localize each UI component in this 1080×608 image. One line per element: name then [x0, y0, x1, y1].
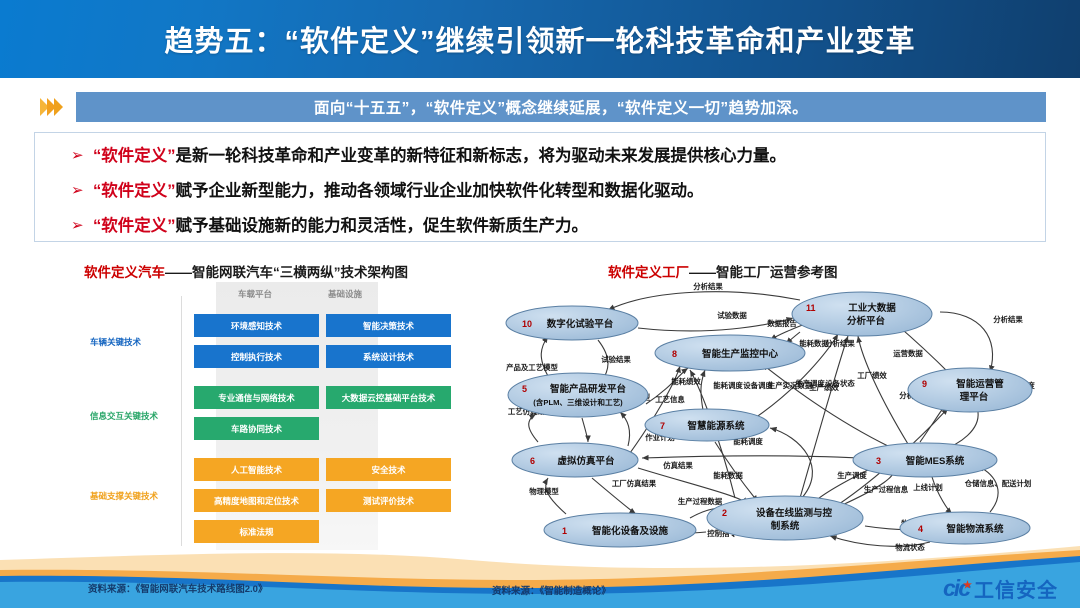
tech-box-hd-map: 高精度地图和定位技术	[194, 489, 319, 512]
bullet-highlight: “软件定义”	[93, 217, 176, 235]
tech-box-test-eval: 测试评价技术	[326, 489, 451, 512]
node-label: 智能化设备及设施	[592, 525, 669, 537]
brand-logo: cic★ 工信安全	[943, 574, 1058, 603]
edge-label: 能耗数据	[713, 471, 743, 480]
row-label-info-interaction-key-tech: 信息交互关键技术	[90, 410, 158, 422]
edge-label: 生产过程数据	[678, 497, 723, 506]
star-icon: ★	[963, 580, 970, 591]
edge-label: 分析结果	[825, 339, 855, 348]
graph-node-6[interactable]: 6 虚拟仿真平台	[512, 443, 638, 477]
list-item: ➢ “软件定义”赋予基础设施新的能力和灵活性，促生软件新质生产力。	[35, 211, 1045, 241]
graph-nodes: 10 数字化试验平台 11 工业大数据 分析平台 8 智能生产监控中心	[506, 292, 1032, 547]
node-number: 3	[876, 456, 881, 466]
bullet-body: 赋予基础设施新的能力和灵活性，促生软件新质生产力。	[176, 217, 589, 235]
node-label: 智能物流系统	[946, 523, 1004, 535]
edge-label: 运营数据	[893, 349, 923, 358]
node-number: 6	[530, 456, 535, 466]
node-label: 智能产品研发平台	[550, 383, 627, 395]
tech-box-bigdata-cloud: 大数据云控基础平台技术	[326, 386, 451, 409]
graph-node-11[interactable]: 11 工业大数据 分析平台	[792, 292, 932, 336]
bullet-arrow-icon: ➢	[71, 141, 93, 171]
bullet-body: 赋予企业新型能力，推动各领域行业企业加快软件化转型和数据化驱动。	[176, 182, 704, 200]
column-header-vehicle-platform: 车载平台	[238, 288, 272, 300]
divider-line	[181, 296, 182, 546]
node-number: 4	[918, 524, 923, 534]
node-number: 5	[522, 384, 527, 394]
node-label-line2: 理平台	[960, 391, 989, 403]
tech-box-v2x: 车路协同技术	[194, 417, 319, 440]
graph-node-10[interactable]: 10 数字化试验平台	[506, 306, 638, 340]
subtitle-text: 面向“十五五”，“软件定义”概念继续延展，“软件定义一切”趋势加深。	[314, 96, 808, 118]
node-number: 7	[660, 421, 665, 431]
node-label: 智慧能源系统	[687, 420, 745, 432]
edge-label: 上线计划	[913, 483, 943, 492]
slide-header: 趋势五：“软件定义”继续引领新一轮科技革命和产业变革	[0, 0, 1080, 78]
tech-box-standards: 标准法规	[194, 520, 319, 543]
edge-label: 分析结果	[993, 315, 1023, 324]
edge-label: 工厂绩效	[857, 371, 887, 380]
column-header-infrastructure: 基础设施	[328, 288, 362, 300]
edge-label: 能耗调度	[713, 381, 743, 390]
graph-node-3[interactable]: 3 智能MES系统	[853, 443, 997, 477]
node-number: 11	[806, 303, 816, 313]
edge-label: 能耗绩效	[671, 377, 701, 386]
bullet-body: 是新一轮科技革命和产业变革的新特征和新标志，将为驱动未来发展提供核心力量。	[176, 147, 787, 165]
chevrons-icon	[28, 98, 76, 116]
chevron-right-icon	[54, 98, 63, 116]
node-number: 9	[922, 379, 927, 389]
node-number: 8	[672, 349, 677, 359]
node-label: 智能生产监控中心	[702, 348, 779, 360]
left-caption-rest: ——智能网联汽车“三横两纵”技术架构图	[165, 265, 408, 280]
source-note-right: 资料来源：《智能制造概论》	[492, 583, 611, 597]
edge-label: 仿真结果	[663, 461, 693, 470]
edge-label: 产品及工艺模型	[506, 363, 558, 372]
slide: 趋势五：“软件定义”继续引领新一轮科技革命和产业变革 面向“十五五”，“软件定义…	[0, 0, 1080, 608]
node-label-line2: 分析平台	[847, 315, 886, 327]
graph-node-1[interactable]: 1 智能化设备及设施	[544, 513, 696, 547]
node-number: 1	[562, 526, 567, 536]
node-label: 数字化试验平台	[546, 318, 614, 330]
bullet-highlight: “软件定义”	[93, 182, 176, 200]
node-label: 工业大数据	[848, 302, 896, 314]
graph-node-2[interactable]: 2 设备在线监测与控 制系统	[707, 496, 863, 540]
edge-label: 生产实况数据	[768, 381, 813, 390]
edge-label: 试验数据	[717, 311, 747, 320]
header-underline	[0, 78, 1080, 81]
footer-wave-decoration	[0, 546, 1080, 608]
node-number: 10	[522, 319, 532, 329]
bullet-arrow-icon: ➢	[71, 176, 93, 206]
node-label: 智能MES系统	[906, 455, 965, 467]
tech-box-ai: 人工智能技术	[194, 458, 319, 481]
bullet-panel: ➢ “软件定义”是新一轮科技革命和产业变革的新特征和新标志，将为驱动未来发展提供…	[34, 132, 1046, 242]
tech-box-system-design: 系统设计技术	[326, 345, 451, 368]
node-number: 2	[722, 508, 727, 518]
left-caption-red: 软件定义汽车	[84, 265, 165, 280]
edge-label: 生产过程信息	[864, 485, 909, 494]
edge-label: 生产调度	[837, 471, 867, 480]
edge-label: 物理模型	[529, 487, 559, 496]
node-label: 智能运营管	[956, 378, 1004, 390]
row-label-foundation-key-tech: 基础支撑关键技术	[90, 490, 158, 502]
network-graph-svg: 分析结果 试验数据 数据报告 能耗数据 分析结果 分析结果 产品及工艺模型 试验…	[500, 278, 1066, 562]
edge-label: 数据报告	[767, 319, 797, 328]
tech-box-env-perception: 环境感知技术	[194, 314, 319, 337]
list-item: ➢ “软件定义”赋予企业新型能力，推动各领域行业企业加快软件化转型和数据化驱动。	[35, 176, 1045, 206]
edge-label: 工厂仿真结果	[612, 479, 657, 488]
row-label-vehicle-key-tech: 车辆关键技术	[90, 336, 141, 348]
graph-node-7[interactable]: 7 智慧能源系统	[645, 409, 769, 441]
edge-label: 分析结果	[693, 282, 723, 291]
edge-label: 工艺信息	[655, 395, 685, 404]
bullet-highlight: “软件定义”	[93, 147, 176, 165]
graph-node-5[interactable]: 5 智能产品研发平台 (含PLM、三维设计和工艺)	[508, 373, 648, 417]
tech-box-security: 安全技术	[326, 458, 451, 481]
subtitle-bar: 面向“十五五”，“软件定义”概念继续延展，“软件定义一切”趋势加深。	[76, 92, 1046, 122]
edge-label: 试验结果	[601, 355, 631, 364]
list-item: ➢ “软件定义”是新一轮科技革命和产业变革的新特征和新标志，将为驱动未来发展提供…	[35, 141, 1045, 171]
edge-label: 仓储信息、配送计划	[964, 479, 1032, 488]
logo-chinese-text: 工信安全	[974, 574, 1058, 603]
tech-box-comm-network: 专业通信与网络技术	[194, 386, 319, 409]
node-label-line2: 制系统	[771, 520, 800, 532]
left-diagram-caption: 软件定义汽车——智能网联汽车“三横两纵”技术架构图	[84, 261, 408, 281]
logo-latin-text: cic★	[943, 575, 969, 602]
tech-box-control-exec: 控制执行技术	[194, 345, 319, 368]
graph-node-9[interactable]: 9 智能运营管 理平台	[908, 368, 1032, 412]
edge-label: 生产绩效	[809, 383, 839, 392]
left-architecture-diagram: 车载平台 基础设施 车辆关键技术 信息交互关键技术 基础支撑关键技术 环境感知技…	[78, 282, 508, 558]
right-network-diagram: 分析结果 试验数据 数据报告 能耗数据 分析结果 分析结果 产品及工艺模型 试验…	[500, 278, 1066, 562]
subtitle-bar-row: 面向“十五五”，“软件定义”概念继续延展，“软件定义一切”趋势加深。	[0, 90, 1080, 124]
tech-box-smart-decision: 智能决策技术	[326, 314, 451, 337]
node-label-line2: (含PLM、三维设计和工艺)	[533, 397, 623, 407]
graph-node-4[interactable]: 4 智能物流系统	[900, 512, 1030, 544]
source-note-left: 资料来源：《智能网联汽车技术路线图2.0》	[88, 581, 267, 595]
graph-node-8[interactable]: 8 智能生产监控中心	[655, 335, 805, 371]
page-title: 趋势五：“软件定义”继续引领新一轮科技革命和产业变革	[164, 18, 915, 60]
node-label: 设备在线监测与控	[756, 507, 833, 519]
bullet-arrow-icon: ➢	[71, 211, 93, 241]
node-label: 虚拟仿真平台	[557, 455, 615, 467]
